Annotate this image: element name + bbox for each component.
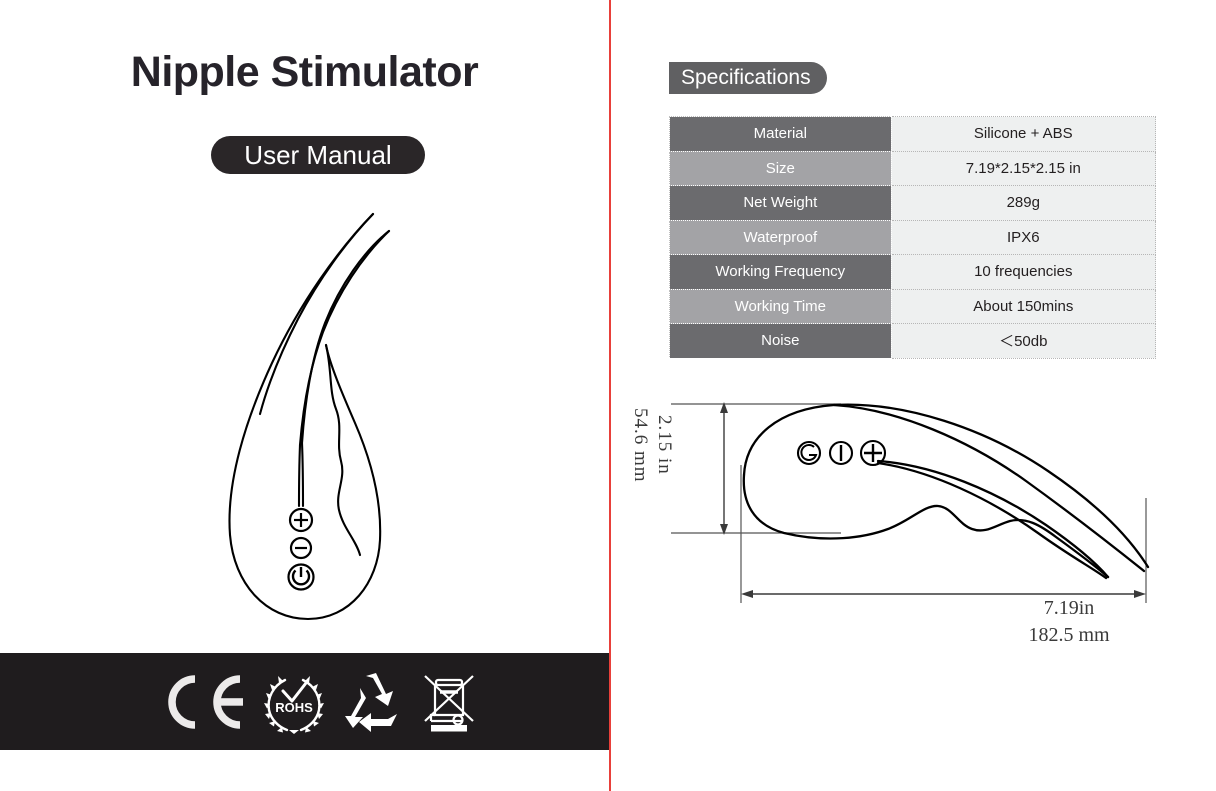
spec-value: 289g — [891, 186, 1155, 221]
spec-value: Silicone + ABS — [891, 117, 1155, 152]
device-control-icons — [798, 441, 885, 465]
spec-key: Net Weight — [670, 186, 892, 221]
spec-value: IPX6 — [891, 220, 1155, 255]
spec-key: Working Time — [670, 289, 892, 324]
vertical-dimension-label: 2.15 in 54.6 mm — [616, 408, 676, 483]
certification-icons: ROHS — [160, 664, 480, 740]
user-manual-badge-label: User Manual — [244, 140, 391, 171]
spec-value: 10 frequencies — [891, 255, 1155, 290]
height-mm: 54.6 mm — [630, 408, 651, 483]
table-row: Working Time About 150mins — [670, 289, 1156, 324]
specifications-table: Material Silicone + ABS Size 7.19*2.15*2… — [669, 116, 1156, 359]
product-illustration — [150, 195, 450, 635]
page-title: Nipple Stimulator — [0, 48, 609, 97]
spec-value: 7.19*2.15*2.15 in — [891, 151, 1155, 186]
svg-text:ROHS: ROHS — [276, 700, 314, 715]
table-row: Waterproof IPX6 — [670, 220, 1156, 255]
right-page: Specifications Material Silicone + ABS S… — [611, 0, 1216, 791]
spec-key: Waterproof — [670, 220, 892, 255]
spec-value: ＜50db — [891, 324, 1155, 359]
table-row: Net Weight 289g — [670, 186, 1156, 221]
spec-key: Noise — [670, 324, 892, 359]
table-row: Size 7.19*2.15*2.15 in — [670, 151, 1156, 186]
rohs-icon: ROHS — [261, 670, 327, 734]
spec-key: Material — [670, 117, 892, 152]
table-row: Noise ＜50db — [670, 324, 1156, 359]
table-row: Material Silicone + ABS — [670, 117, 1156, 152]
specifications-heading-label: Specifications — [681, 66, 811, 90]
horizontal-dimension-label: 7.19in 182.5 mm — [839, 595, 1216, 649]
spec-value: About 150mins — [891, 289, 1155, 324]
spec-key: Working Frequency — [670, 255, 892, 290]
spec-key: Size — [670, 151, 892, 186]
manual-page: Nipple Stimulator User Manual — [0, 0, 1216, 791]
weee-bin-icon — [418, 669, 480, 735]
height-inches: 2.15 in — [654, 415, 675, 475]
specifications-heading: Specifications — [669, 62, 827, 94]
table-row: Working Frequency 10 frequencies — [670, 255, 1156, 290]
length-mm: 182.5 mm — [839, 622, 1216, 649]
recycle-icon — [341, 670, 405, 734]
length-inches: 7.19in — [839, 595, 1216, 622]
ce-mark-icon — [160, 672, 248, 732]
user-manual-badge: User Manual — [211, 136, 425, 174]
left-page: Nipple Stimulator User Manual — [0, 0, 609, 791]
